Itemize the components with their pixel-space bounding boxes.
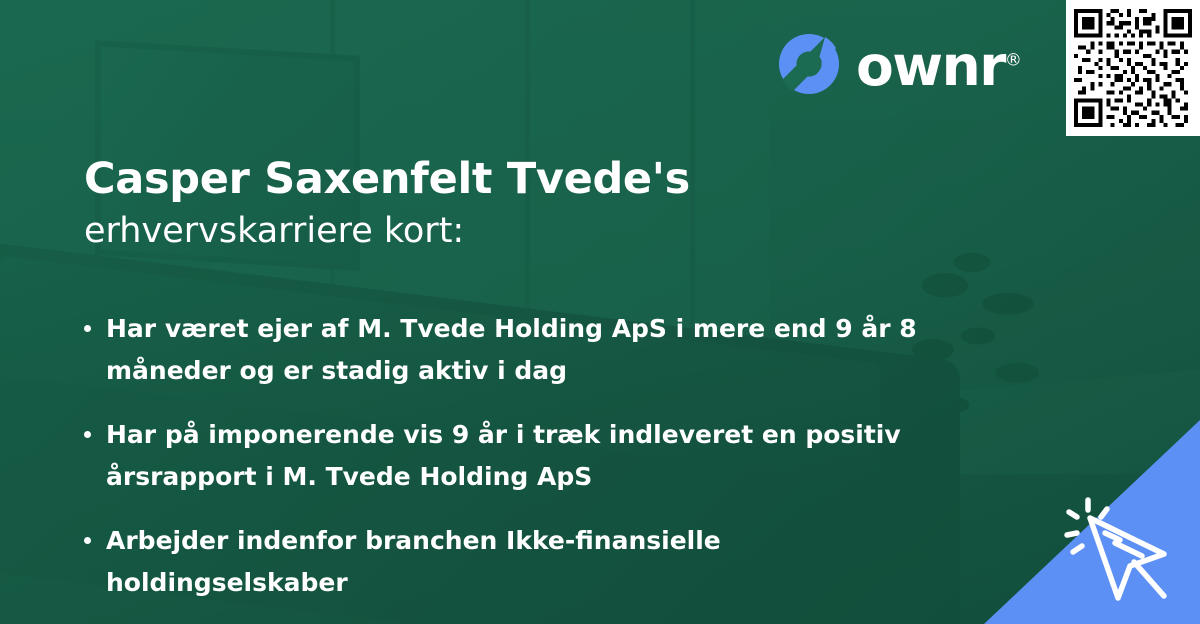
qr-code-panel[interactable]	[1066, 0, 1200, 136]
list-item: Har været ejer af M. Tvede Holding ApS i…	[84, 308, 944, 392]
list-item-text: Har på imponerende vis 9 år i træk indle…	[106, 420, 901, 491]
bullet-dot-icon	[84, 325, 91, 332]
title-line-name: Casper Saxenfelt Tvede's	[84, 154, 984, 205]
page-title: Casper Saxenfelt Tvede's erhvervskarrier…	[84, 154, 984, 254]
career-facts-list: Har været ejer af M. Tvede Holding ApS i…	[84, 308, 944, 604]
registered-trademark-symbol: ®	[1005, 50, 1022, 70]
career-card: ownr®	[0, 0, 1200, 624]
bullet-dot-icon	[84, 537, 91, 544]
ownr-circle-mark-icon	[778, 33, 840, 95]
list-item-text: Arbejder indenfor branchen Ikke-finansie…	[106, 526, 721, 597]
ownr-wordmark: ownr®	[856, 39, 1022, 94]
qr-code-icon	[1074, 8, 1192, 128]
ownr-logo[interactable]: ownr®	[778, 33, 1022, 95]
click-cursor-icon	[1060, 492, 1182, 610]
bullet-dot-icon	[84, 431, 91, 438]
list-item: Arbejder indenfor branchen Ikke-finansie…	[84, 520, 944, 604]
wordmark-text: ownr	[856, 34, 1005, 98]
list-item: Har på imponerende vis 9 år i træk indle…	[84, 414, 944, 498]
title-line-subtitle: erhvervskarriere kort:	[84, 209, 984, 255]
list-item-text: Har været ejer af M. Tvede Holding ApS i…	[106, 314, 917, 385]
